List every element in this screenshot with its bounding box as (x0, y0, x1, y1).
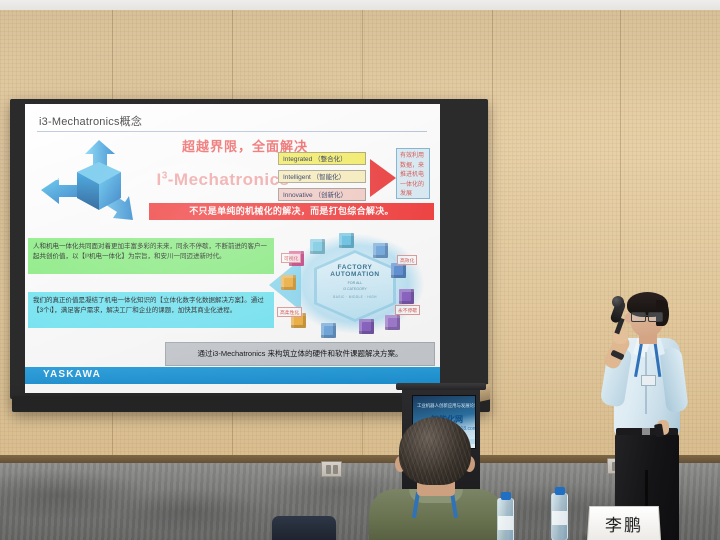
diagram-cube (385, 315, 400, 330)
water-bottle (497, 498, 514, 540)
diagram-cube (359, 319, 374, 334)
slide-title-divider (37, 131, 427, 132)
tag-integrated: Integrated （整合化） (278, 152, 366, 165)
chair-back (272, 516, 336, 540)
wall-outlet (321, 461, 342, 477)
nameplate: 李鹏 (587, 506, 661, 540)
presenter-glasses-bridge (644, 315, 648, 316)
tag-innovative-zh: （创新化） (314, 192, 347, 199)
presenter-glasses-right-lens (648, 312, 663, 322)
diagram-cube (310, 239, 325, 254)
monitor-line-1: 工业机器人创新应用与发展论坛 (417, 403, 476, 409)
microphone-head-icon (612, 296, 624, 308)
fa-line-1: FACTORY (317, 264, 393, 271)
diagram-label: 可视化 (281, 253, 301, 263)
podium-shelf (396, 383, 486, 390)
diagram-cube (281, 275, 296, 290)
diagram-cube (339, 233, 354, 248)
tag-intelligent: Intelligent （智能化） (278, 170, 366, 183)
cyan-text-box: 我们的真正价值是凝结了机电一体化知识的【立体化数字化数据解决方案】。通过【3个i… (28, 292, 274, 328)
tag-intelligent-zh: （智能化） (313, 174, 346, 181)
slide-caption-box: 通过i3-Mechatronics 来构筑立体的硬件和软件课题解决方案。 (165, 342, 435, 366)
factory-automation-diagram: FACTORY AUTOMATION FOR ALL i3 CATEGORY B… (273, 231, 438, 341)
conference-photo-scene: i3-Mechatronics概念 超越界限，全面解决 (0, 0, 720, 540)
fa-line-5: BASIC · MIDDLE · HIGH (317, 295, 393, 299)
bottle-cap (555, 487, 565, 495)
diagram-cube (321, 323, 336, 338)
fa-line-4: i3 CATEGORY (317, 287, 393, 291)
diagram-label: 高柔性化 (277, 307, 302, 317)
bottle-cap (501, 492, 511, 500)
audience-hair-texture (399, 417, 471, 485)
diagram-label: 高效化 (397, 255, 417, 265)
tag-innovative-en: Innovative (283, 192, 313, 199)
yaskawa-logo: YASKAWA (43, 369, 101, 380)
tag-innovative: Innovative （创新化） (278, 188, 366, 201)
bottle-label (552, 511, 567, 525)
outcome-callout-box: 有效利用数据，来推进机电一体化的发展 (396, 148, 430, 199)
diagram-label: 永不停歇 (395, 305, 420, 315)
diagram-cube (399, 289, 414, 304)
presentation-slide: i3-Mechatronics概念 超越界限，全面解决 (25, 104, 440, 393)
hexagon-center-text: FACTORY AUTOMATION FOR ALL i3 CATEGORY B… (317, 264, 393, 299)
red-banner-statement: 不只是单纯的机械化的解决，而是打包综合解决。 (149, 203, 434, 220)
fa-line-2: AUTOMATION (317, 271, 393, 278)
water-bottle (551, 493, 568, 540)
presenter-badge (641, 375, 656, 386)
cube-innovative-label: Innovative (40, 175, 69, 182)
nameplate-text: 李鹏 (588, 512, 660, 536)
fa-line-3: FOR ALL (317, 281, 393, 285)
green-text-box: 人和机电一体化共同面对着更加丰富多彩的未来，同永不停歇，不断前进的客户一起共创价… (28, 238, 274, 274)
red-arrow-icon (370, 159, 396, 197)
tag-intelligent-en: Intelligent (283, 174, 311, 181)
bottle-label (498, 516, 513, 530)
presenter-belt-buckle (642, 428, 650, 435)
tag-integrated-zh: （整合化） (314, 156, 347, 163)
wordmark-rest: -Mechatronics (168, 170, 290, 189)
presenter-glasses-left-lens (631, 312, 646, 322)
diagram-cube (391, 263, 406, 278)
tag-integrated-en: Integrated (283, 156, 312, 163)
diagram-cube (373, 243, 388, 258)
slide-title: i3-Mechatronics概念 (39, 113, 142, 129)
